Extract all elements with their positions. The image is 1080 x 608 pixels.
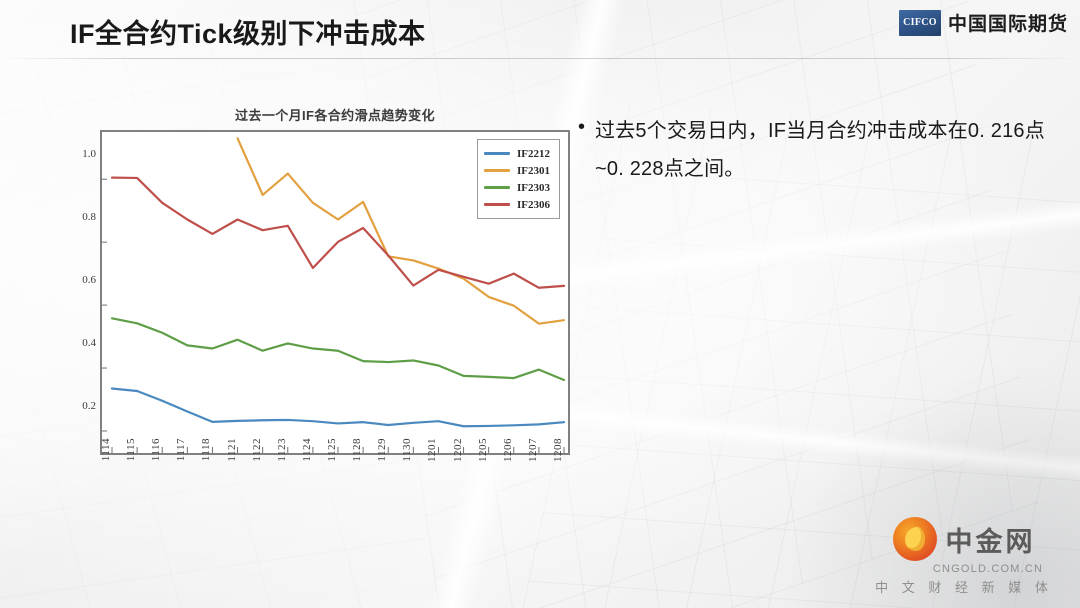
chart-x-tick-label: 1117 — [175, 438, 187, 461]
chart-x-tick-label: 1208 — [552, 438, 564, 462]
legend-label-if2306: IF2306 — [517, 199, 550, 211]
cifco-logo-icon: CIFCO — [899, 10, 941, 36]
chart-y-tick-label: 0.8 — [82, 211, 96, 223]
bullet-row: • 过去5个交易日内，IF当月合约冲击成本在0. 216点~0. 228点之间。 — [578, 112, 1048, 188]
chart-plot-area: IF2212 IF2301 IF2303 IF2306 — [100, 130, 570, 455]
header-divider — [0, 58, 1080, 59]
watermark-name: 中金网 — [946, 520, 1036, 559]
legend-item-if2303[interactable]: IF2303 — [484, 179, 550, 196]
legend-swatch-if2301 — [484, 169, 510, 172]
chart-y-tick-label: 0.6 — [82, 274, 96, 286]
chart-y-tick-label: 0.4 — [82, 337, 96, 349]
legend-swatch-if2306 — [484, 203, 510, 206]
chart-x-tick-label: 1207 — [527, 438, 539, 462]
chart-x-tick-label: 1125 — [326, 438, 338, 462]
bullet-text: 过去5个交易日内，IF当月合约冲击成本在0. 216点~0. 228点之间。 — [595, 112, 1048, 188]
chart-x-tick-label: 1116 — [150, 438, 162, 461]
chart-x-tick-label: 1129 — [376, 438, 388, 462]
chart-x-tick-label: 1115 — [125, 438, 137, 461]
chart-x-tick-label: 1128 — [351, 438, 363, 462]
chart-y-axis-labels: 1.00.80.60.40.2 — [68, 105, 96, 430]
chart-x-tick-label: 1114 — [100, 438, 112, 461]
watermark: 中金网 CNGOLD.COM.CN 中 文 财 经 新 媒 体 — [864, 517, 1064, 596]
slide-canvas: IF全合约Tick级别下冲击成本 CIFCO 中国国际期货 过去一个月IF各合约… — [0, 0, 1080, 608]
legend-item-if2301[interactable]: IF2301 — [484, 162, 550, 179]
legend-label-if2212: IF2212 — [517, 148, 550, 160]
chart-x-axis-labels: 1114111511161117111811211122112311241125… — [100, 434, 570, 494]
chart-x-tick-label: 1118 — [200, 438, 212, 461]
chart-container: 过去一个月IF各合约滑点趋势变化 IF2212 IF2301 IF2303 — [100, 105, 570, 495]
bullet-block: • 过去5个交易日内，IF当月合约冲击成本在0. 216点~0. 228点之间。 — [578, 112, 1048, 188]
chart-x-tick-label: 1130 — [401, 438, 413, 462]
cngold-logo-icon — [893, 517, 937, 561]
chart-title: 过去一个月IF各合约滑点趋势变化 — [100, 105, 570, 124]
bullet-marker-icon: • — [578, 112, 585, 142]
legend-label-if2303: IF2303 — [517, 182, 550, 194]
page-title: IF全合约Tick级别下冲击成本 — [70, 12, 426, 51]
cifco-logo-text: CIFCO — [903, 17, 937, 28]
chart-x-tick-label: 1124 — [301, 438, 313, 462]
chart-x-tick-label: 1202 — [452, 438, 464, 462]
legend-item-if2212[interactable]: IF2212 — [484, 145, 550, 162]
chart-x-tick-label: 1122 — [251, 438, 263, 462]
chart-line-if2212 — [112, 388, 564, 426]
watermark-slogan: 中 文 财 经 新 媒 体 — [875, 577, 1053, 596]
chart-x-tick-label: 1121 — [226, 438, 238, 462]
chart-y-tick-label: 1.0 — [82, 148, 96, 160]
legend-item-if2306[interactable]: IF2306 — [484, 196, 550, 213]
chart-x-tick-label: 1123 — [276, 438, 288, 462]
chart-x-tick-label: 1201 — [426, 438, 438, 462]
watermark-url: CNGOLD.COM.CN — [933, 563, 1043, 575]
brand-name-label: 中国国际期货 — [948, 9, 1068, 36]
legend-swatch-if2212 — [484, 152, 510, 155]
chart-x-tick-label: 1205 — [477, 438, 489, 462]
chart-y-tick-label: 0.2 — [82, 400, 96, 412]
chart-x-tick-label: 1206 — [502, 438, 514, 462]
chart-legend: IF2212 IF2301 IF2303 IF2306 — [477, 139, 560, 219]
legend-swatch-if2303 — [484, 186, 510, 189]
legend-label-if2301: IF2301 — [517, 165, 550, 177]
chart-line-if2303 — [112, 318, 564, 380]
brand-logo: CIFCO 中国国际期货 — [899, 9, 1068, 36]
watermark-top-row: 中金网 — [893, 517, 1036, 561]
